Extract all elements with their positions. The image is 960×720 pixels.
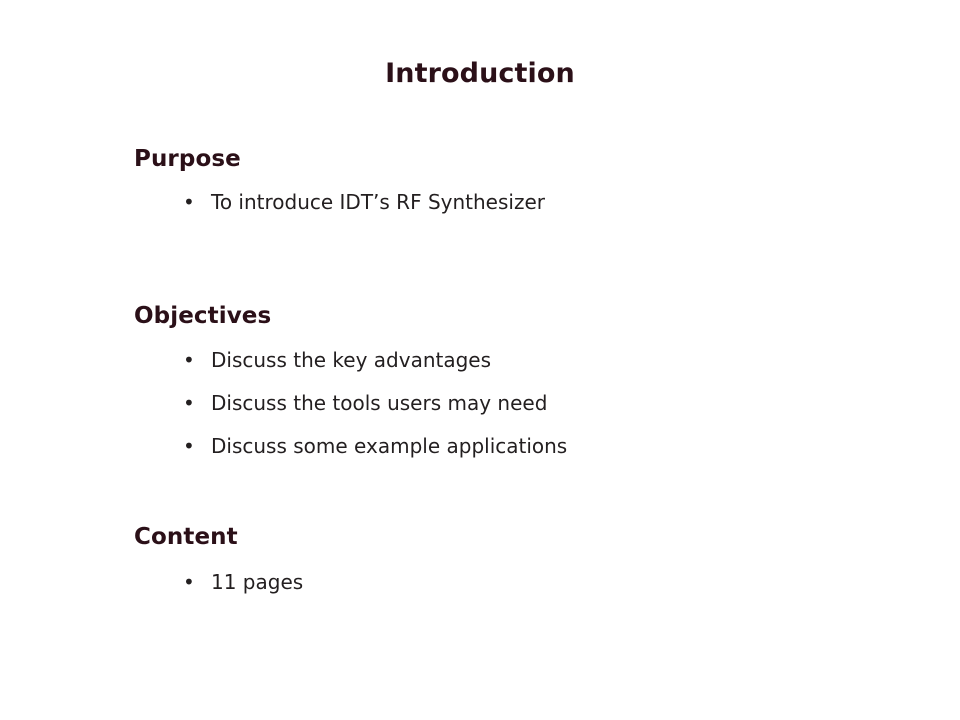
list-item: • 11 pages: [134, 572, 894, 592]
section-heading-objectives: Objectives: [134, 303, 894, 329]
list-item: • Discuss the key advantages: [134, 350, 894, 370]
list-item: • Discuss the tools users may need: [134, 393, 894, 413]
list-item: • Discuss some example applications: [134, 436, 894, 456]
bullet-dot-icon: •: [183, 393, 195, 413]
section-purpose: Purpose • To introduce IDT’s RF Synthesi…: [134, 146, 894, 212]
list-item-text: Discuss the key advantages: [211, 348, 491, 372]
section-heading-content: Content: [134, 524, 894, 550]
list-item-text: 11 pages: [211, 570, 303, 594]
bullet-list-content: • 11 pages: [134, 572, 894, 592]
slide-title: Introduction: [0, 58, 960, 89]
bullet-dot-icon: •: [183, 436, 195, 456]
bullet-dot-icon: •: [183, 192, 195, 212]
section-content: Content • 11 pages: [134, 524, 894, 592]
list-item-text: Discuss the tools users may need: [211, 391, 547, 415]
list-item: • To introduce IDT’s RF Synthesizer: [134, 192, 894, 212]
slide-body: Purpose • To introduce IDT’s RF Synthesi…: [134, 146, 894, 592]
section-heading-purpose: Purpose: [134, 146, 894, 172]
list-item-text: Discuss some example applications: [211, 434, 567, 458]
section-objectives: Objectives • Discuss the key advantages …: [134, 303, 894, 455]
bullet-dot-icon: •: [183, 572, 195, 592]
list-item-text: To introduce IDT’s RF Synthesizer: [211, 190, 545, 214]
bullet-list-purpose: • To introduce IDT’s RF Synthesizer: [134, 192, 894, 212]
bullet-list-objectives: • Discuss the key advantages • Discuss t…: [134, 350, 894, 456]
bullet-dot-icon: •: [183, 350, 195, 370]
slide-canvas: Introduction Purpose • To introduce IDT’…: [0, 0, 960, 720]
